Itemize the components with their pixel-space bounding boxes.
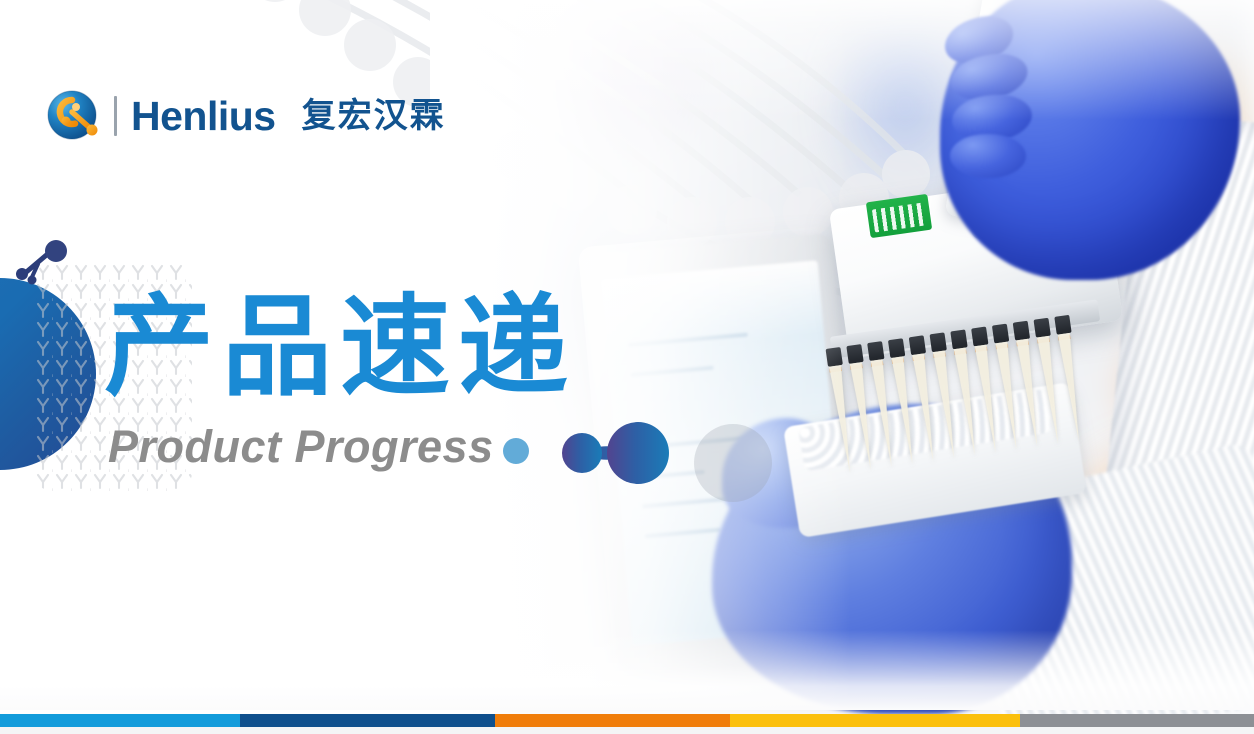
segment-gray [1020, 714, 1254, 727]
henlius-logo[interactable]: Henlius 复宏汉霖 [46, 88, 446, 144]
glove-finger [950, 134, 1026, 178]
segment-yellow [730, 714, 1020, 727]
logo-divider [114, 96, 117, 136]
segment-orange [495, 714, 730, 727]
bottom-color-bar [0, 714, 1254, 727]
logo-chinese-name: 复宏汉霖 [302, 99, 446, 133]
purple-blue-molecule-shape [558, 422, 670, 484]
bottom-baseline [0, 727, 1254, 734]
page-title-chinese: 产品速递 [104, 292, 576, 402]
photo-bottom-fade [0, 630, 1254, 710]
navy-molecule-shape [12, 238, 76, 286]
gray-translucent-circle [694, 424, 772, 502]
segment-light-blue [0, 714, 240, 727]
henlius-q-molecule-logo-icon [46, 88, 102, 144]
light-blue-dot [503, 438, 529, 464]
logo-wordmark: Henlius [131, 96, 276, 137]
cover-slide: Henlius 复宏汉霖 产品速递 Product Progress [0, 0, 1254, 734]
photo-top-fade [430, 0, 1254, 120]
page-subtitle-english: Product Progress [108, 424, 494, 469]
segment-navy [240, 714, 495, 727]
